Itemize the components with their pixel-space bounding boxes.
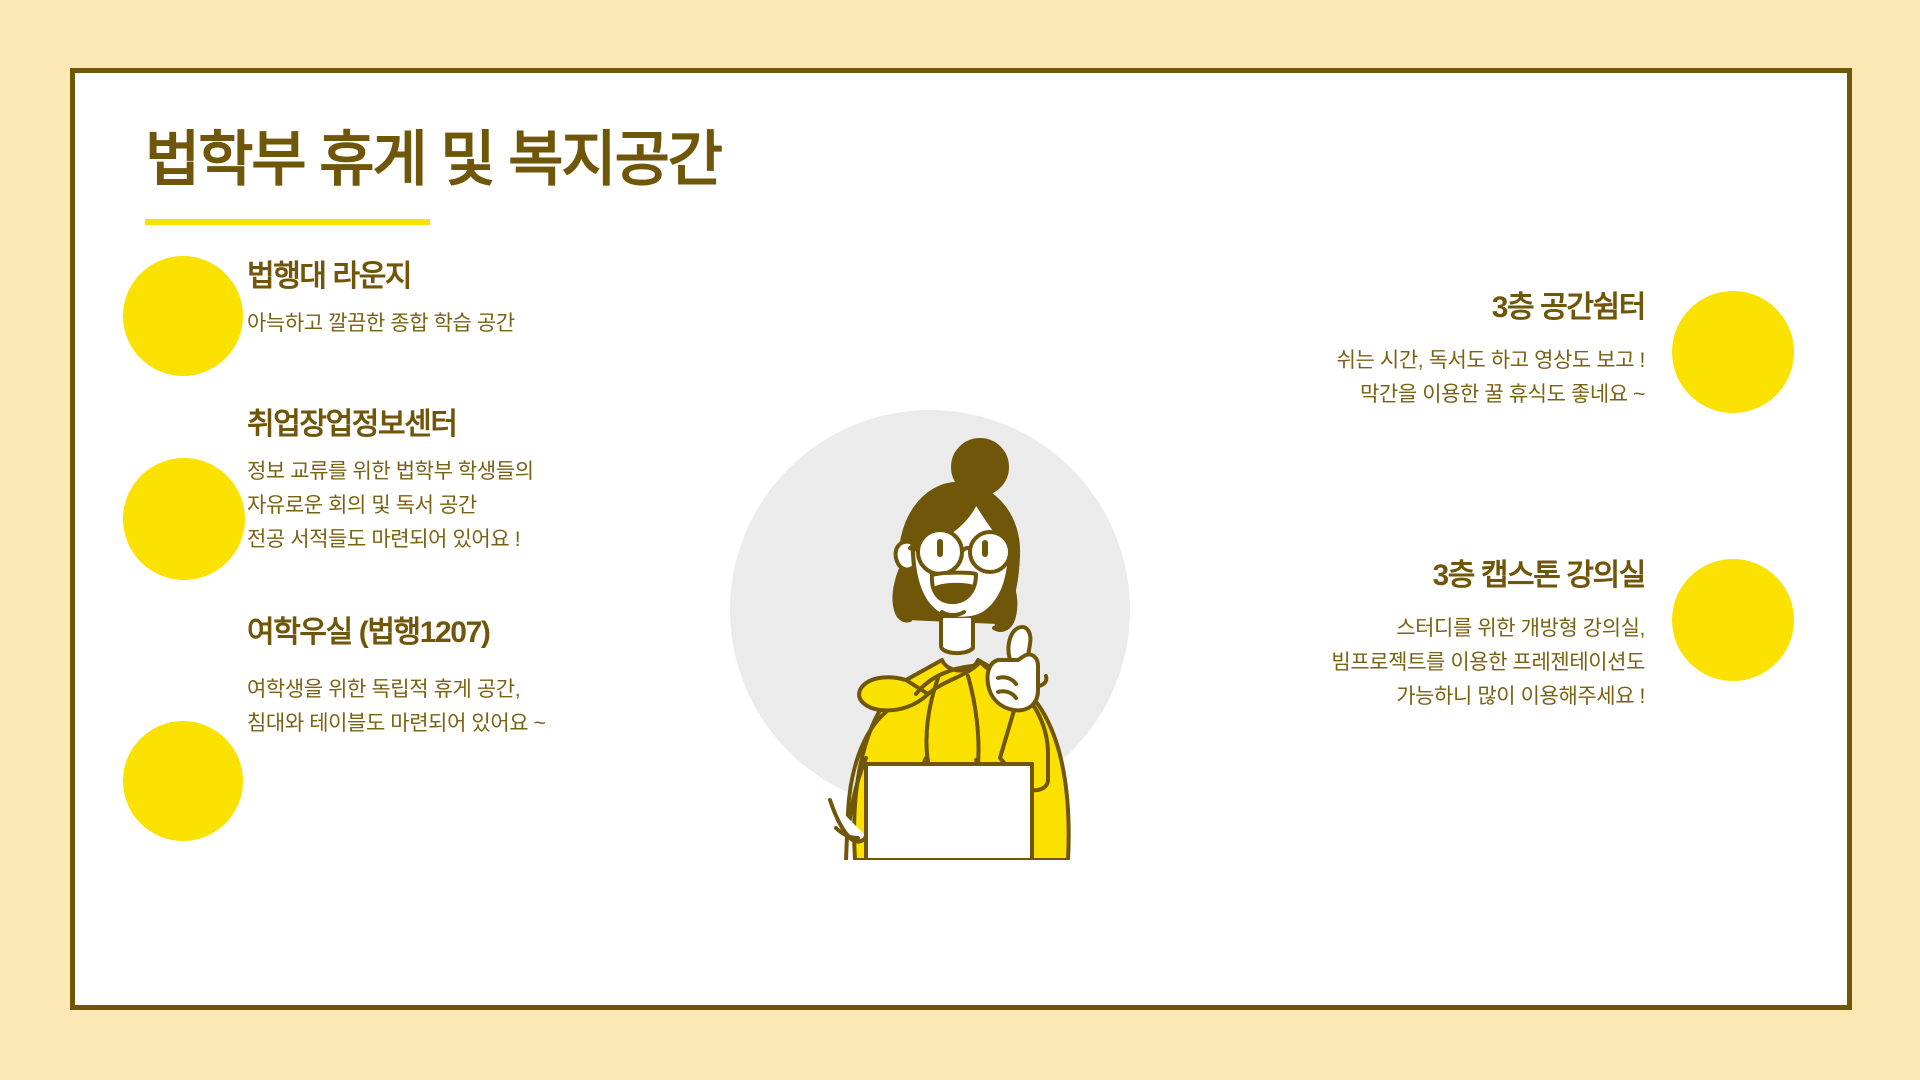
- feature-career-center: 취업장업정보센터 정보 교류를 위한 법학부 학생들의 자유로운 회의 및 독서…: [247, 408, 534, 557]
- student-with-laptop-illustration: [680, 360, 1180, 860]
- page-title: 법학부 휴게 및 복지공간: [145, 128, 721, 191]
- title-block: 법학부 휴게 및 복지공간: [145, 128, 721, 225]
- bullet-dot-3: [123, 721, 243, 841]
- desc-line: 정보 교류를 위한 법학부 학생들의: [247, 455, 534, 489]
- feature-career-center-desc: 정보 교류를 위한 법학부 학생들의 자유로운 회의 및 독서 공간 전공 서적…: [247, 455, 534, 557]
- desc-line: 자유로운 회의 및 독서 공간: [247, 489, 534, 523]
- feature-women-lounge-desc: 여학생을 위한 독립적 휴게 공간, 침대와 테이블도 마련되어 있어요 ~: [247, 673, 545, 741]
- title-underline-rule: [145, 219, 430, 225]
- feature-career-center-title: 취업장업정보센터: [247, 408, 534, 441]
- bullet-dot-2: [123, 458, 245, 580]
- feature-women-lounge: 여학우실 (법행1207) 여학생을 위한 독립적 휴게 공간, 침대와 테이블…: [247, 616, 545, 741]
- bullet-dot-1: [123, 256, 243, 376]
- desc-line: 침대와 테이블도 마련되어 있어요 ~: [247, 707, 545, 741]
- desc-line: 여학생을 위한 독립적 휴게 공간,: [247, 673, 545, 707]
- feature-lounge-title: 법행대 라운지: [247, 260, 515, 293]
- feature-floor3-rest-title: 3층 공간쉼터: [965, 291, 1645, 324]
- desc-line: 전공 서적들도 마련되어 있어요 !: [247, 523, 534, 557]
- feature-lounge: 법행대 라운지 아늑하고 깔끔한 종합 학습 공간: [247, 260, 515, 341]
- slide-root: 법학부 휴게 및 복지공간 법행대 라운지 아늑하고 깔끔한 종합 학습 공간 …: [0, 0, 1920, 1080]
- bullet-dot-4: [1672, 291, 1794, 413]
- bullet-dot-5: [1672, 559, 1794, 681]
- feature-women-lounge-title: 여학우실 (법행1207): [247, 616, 545, 649]
- desc-line: 아늑하고 깔끔한 종합 학습 공간: [247, 307, 515, 341]
- feature-lounge-desc: 아늑하고 깔끔한 종합 학습 공간: [247, 307, 515, 341]
